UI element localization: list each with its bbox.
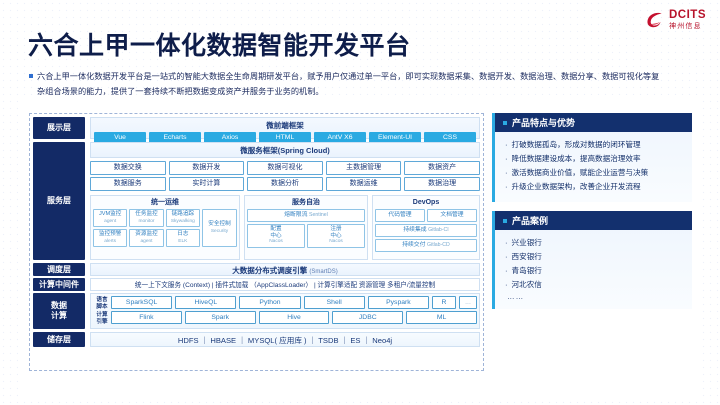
script-r[interactable]: R xyxy=(432,296,456,309)
advantages-card-body: 打破数据孤岛，形成对数据的闭环管理 降低数据建设成本，提高数据治理效率 激活数据… xyxy=(495,132,692,202)
schedule-layer-row: 调度层 大数据分布式调度引擎 (SmartDS) xyxy=(33,263,480,276)
engine-jdbc[interactable]: JDBC xyxy=(332,311,403,324)
microservice-framework-panel: 微服务框架(Spring Cloud) xyxy=(90,142,480,158)
ops-alert-cn: 监控预警 xyxy=(94,231,126,238)
engine-spark[interactable]: Spark xyxy=(185,311,256,324)
cap-data-service[interactable]: 数据服务 xyxy=(90,177,166,191)
script-hiveql[interactable]: HiveQL xyxy=(175,296,236,309)
advantage-item-4: 升级企业数据架构，改善企业开发流程 xyxy=(505,180,682,194)
autonomy-registry-center[interactable]: 注册 中心 Nacos xyxy=(307,224,365,248)
advantage-item-1: 打破数据孤岛，形成对数据的闭环管理 xyxy=(505,138,682,152)
layer-label-data-compute-line1: 数据 xyxy=(51,301,67,310)
ops-alert[interactable]: 监控预警 alerts xyxy=(93,229,127,247)
case-item-2: 西安银行 xyxy=(505,250,682,264)
cases-card: 产品案例 兴业银行 西安银行 青岛银行 河北农信 …… xyxy=(492,211,692,309)
autonomy-circuit-breaker[interactable]: 熔断限流 Sentinel xyxy=(247,209,365,222)
autonomy-fuse-cn: 熔断限流 xyxy=(284,212,307,218)
scheduler-engine-band: 大数据分布式调度引擎 (SmartDS) xyxy=(90,263,480,276)
devops-title: DevOps xyxy=(375,198,477,207)
cases-bullet-icon xyxy=(503,219,507,223)
logo-en-text: DCITS xyxy=(669,10,706,22)
engine-ml[interactable]: ML xyxy=(406,311,477,324)
bullet-square-icon xyxy=(29,74,33,78)
advantages-card-header: 产品特点与优势 xyxy=(495,113,692,132)
storage-layer-row: 储存层 HDFS ｜ HBASE ｜ MYSQL( 应用库 ) ｜ TSDB ｜… xyxy=(33,332,480,347)
cap-data-assets[interactable]: 数据资产 xyxy=(404,161,480,175)
advantages-card: 产品特点与优势 打破数据孤岛，形成对数据的闭环管理 降低数据建设成本，提高数据治… xyxy=(492,113,692,202)
service-autonomy-panel: 服务自治 熔断限流 Sentinel 配置 中心 Nacos xyxy=(244,195,368,260)
cap-data-visualization[interactable]: 数据可视化 xyxy=(247,161,323,175)
scheduler-engine-cn: 大数据分布式调度引擎 xyxy=(232,266,307,275)
autonomy-fuse-en: Sentinel xyxy=(309,212,328,218)
case-item-1: 兴业银行 xyxy=(505,236,682,250)
ops-resource-monitor-cn: 资源监控 xyxy=(130,231,162,238)
advantage-item-3: 激活数据商业价值，赋能企业运营与决策 xyxy=(505,166,682,180)
devops-continuous-integration[interactable]: 持续集成 Gitlab-CI xyxy=(375,224,477,237)
script-label-line2: 脚本 xyxy=(96,304,107,310)
capability-grid: 数据交换 数据开发 数据可视化 主数据管理 数据资产 数据服务 实时计算 数据分… xyxy=(90,161,480,191)
ops-task-monitor[interactable]: 任务监控 monitor xyxy=(129,209,163,227)
devops-cd-en: Gitlab-CD xyxy=(427,242,450,248)
devops-row-1: 代码管理 文档管理 xyxy=(375,209,477,222)
case-item-3: 青岛银行 xyxy=(505,264,682,278)
middleware-band: 统一上下文服务 (Context) | 插件式加载 （AppClassLoade… xyxy=(90,278,480,291)
scheduler-engine-en: (SmartDS) xyxy=(309,269,337,275)
layer-label-data-compute: 数据 计算 xyxy=(33,293,85,329)
ops-resource-monitor-en: agent xyxy=(130,238,162,245)
architecture-diagram: 展示层 微前端框架 Vue Echarts Axios HTML AntV X6… xyxy=(29,113,484,371)
ops-log-elk[interactable]: 日志 ELK xyxy=(166,229,200,247)
ops-security-cn: 安全控制 xyxy=(208,221,230,228)
devops-row-2: 持续集成 Gitlab-CI xyxy=(375,224,477,237)
engine-row: Flink Spark Hive JDBC ML xyxy=(111,311,477,324)
layer-label-schedule: 调度层 xyxy=(33,263,85,276)
lead-paragraph: 六合上甲一体化数据开发平台是一站式的智能大数据全生命周期研发平台，赋予用户仅通过… xyxy=(29,69,705,99)
devops-doc-management[interactable]: 文档管理 xyxy=(427,209,477,222)
side-panel: 产品特点与优势 打破数据孤岛，形成对数据的闭环管理 降低数据建设成本，提高数据治… xyxy=(492,113,692,318)
cap-realtime-compute[interactable]: 实时计算 xyxy=(169,177,245,191)
ops-trace-cn: 链路追踪 xyxy=(167,211,199,218)
cases-card-header: 产品案例 xyxy=(495,211,692,230)
registry-center-en: Nacos xyxy=(308,239,364,246)
ops-jvm-monitor-en: agent xyxy=(94,218,126,225)
layer-label-service: 服务层 xyxy=(33,142,85,260)
cap-master-data-management[interactable]: 主数据管理 xyxy=(326,161,402,175)
script-pyspark[interactable]: Pyspark xyxy=(368,296,429,309)
dcits-swoosh-icon xyxy=(645,10,665,30)
devops-continuous-delivery[interactable]: 持续交付 Gitlab-CD xyxy=(375,239,477,252)
brand-logo: DCITS 神州信息 xyxy=(645,10,706,30)
devops-panel: DevOps 代码管理 文档管理 持续集成 Gitlab-CI 持续交付 xyxy=(372,195,480,260)
ops-task-monitor-en: monitor xyxy=(130,218,162,225)
cap-data-analysis[interactable]: 数据分析 xyxy=(247,177,323,191)
advantages-title: 产品特点与优势 xyxy=(512,116,575,129)
ops-task-monitor-cn: 任务监控 xyxy=(130,211,162,218)
cap-data-governance[interactable]: 数据治理 xyxy=(404,177,480,191)
layer-label-middleware: 计算中间件 xyxy=(33,278,85,291)
ops-alert-en: alerts xyxy=(94,238,126,245)
cases-card-body: 兴业银行 西安银行 青岛银行 河北农信 …… xyxy=(495,230,692,309)
config-center-en: Nacos xyxy=(248,239,304,246)
logo-cn-text: 神州信息 xyxy=(669,23,706,30)
script-python[interactable]: Python xyxy=(239,296,300,309)
engine-flink[interactable]: Flink xyxy=(111,311,182,324)
layer-label-data-compute-line2: 计算 xyxy=(51,311,67,320)
cases-more: …… xyxy=(505,292,682,301)
engine-hive[interactable]: Hive xyxy=(259,311,330,324)
presentation-layer-row: 展示层 微前端框架 Vue Echarts Axios HTML AntV X6… xyxy=(33,117,480,139)
ops-security-control[interactable]: 安全控制 Security xyxy=(202,209,237,247)
service-autonomy-title: 服务自治 xyxy=(247,198,365,207)
storage-band: HDFS ｜ HBASE ｜ MYSQL( 应用库 ) ｜ TSDB ｜ ES … xyxy=(90,332,480,347)
autonomy-row-2: 配置 中心 Nacos 注册 中心 Nacos xyxy=(247,224,365,248)
ops-security-en: Security xyxy=(211,228,228,235)
autonomy-row-1: 熔断限流 Sentinel xyxy=(247,209,365,222)
capability-row-2: 数据服务 实时计算 数据分析 数据运维 数据治理 xyxy=(90,177,480,191)
data-compute-layer-row: 数据 计算 语言 脚本 计算 引擎 SparkSQL xyxy=(33,293,480,329)
unified-ops-title: 统一运维 xyxy=(93,198,237,207)
script-sparksql[interactable]: SparkSQL xyxy=(111,296,172,309)
ops-trace-skywalking[interactable]: 链路追踪 Skywalking xyxy=(166,209,200,227)
autonomy-config-center[interactable]: 配置 中心 Nacos xyxy=(247,224,305,248)
ops-resource-monitor[interactable]: 资源监控 agent xyxy=(129,229,163,247)
ops-jvm-monitor-cn: JVM监控 xyxy=(94,211,126,218)
ops-autonomy-devops-row: 统一运维 JVM监控 agent 任务监控 monitor xyxy=(90,195,480,260)
devops-cd-cn: 持续交付 xyxy=(402,242,425,248)
ops-log-cn: 日志 xyxy=(167,231,199,238)
cap-data-ops[interactable]: 数据运维 xyxy=(326,177,402,191)
case-item-4: 河北农信 xyxy=(505,278,682,292)
compute-side-labels: 语言 脚本 计算 引擎 xyxy=(93,296,111,326)
middleware-layer-row: 计算中间件 统一上下文服务 (Context) | 插件式加载 （AppClas… xyxy=(33,278,480,291)
presentation-panel: 微前端框架 Vue Echarts Axios HTML AntV X6 Ele… xyxy=(90,117,480,139)
advantages-bullet-icon xyxy=(503,121,507,125)
micro-frontend-title: 微前端框架 xyxy=(91,118,479,132)
cap-data-exchange[interactable]: 数据交换 xyxy=(90,161,166,175)
capability-row-1: 数据交换 数据开发 数据可视化 主数据管理 数据资产 xyxy=(90,161,480,175)
page-title: 六合上甲一体化数据智能开发平台 xyxy=(28,26,411,62)
devops-ci-en: Gitlab-CI xyxy=(428,227,448,233)
lead-line-2: 杂组合场景的能力，提供了一套持续不断把数据变成资产并服务于业务的机制。 xyxy=(37,87,324,96)
cap-data-development[interactable]: 数据开发 xyxy=(169,161,245,175)
compute-panel: 语言 脚本 计算 引擎 SparkSQL HiveQL Python Shell… xyxy=(90,293,480,329)
microservice-framework-title: 微服务框架(Spring Cloud) xyxy=(91,143,479,157)
layer-label-presentation: 展示层 xyxy=(33,117,85,139)
script-label-line1: 语言 xyxy=(96,297,107,303)
ops-row-2: 监控预警 alerts 资源监控 agent 日志 ELK xyxy=(93,229,200,247)
script-shell[interactable]: Shell xyxy=(304,296,365,309)
script-more[interactable]: ... xyxy=(459,296,477,309)
cases-title: 产品案例 xyxy=(512,214,548,227)
unified-ops-panel: 统一运维 JVM监控 agent 任务监控 monitor xyxy=(90,195,240,260)
engine-label-line1: 计算 xyxy=(96,312,107,318)
service-layer-row: 服务层 微服务框架(Spring Cloud) 数据交换 数据开发 数据可视化 … xyxy=(33,142,480,260)
ops-jvm-monitor[interactable]: JVM监控 agent xyxy=(93,209,127,227)
ops-log-en: ELK xyxy=(167,238,199,245)
ops-trace-en: Skywalking xyxy=(167,218,199,225)
lead-line-1: 六合上甲一体化数据开发平台是一站式的智能大数据全生命周期研发平台，赋予用户仅通过… xyxy=(37,72,659,81)
ops-row-1: JVM监控 agent 任务监控 monitor 链路追踪 Skywalking xyxy=(93,209,200,227)
script-row: SparkSQL HiveQL Python Shell Pyspark R .… xyxy=(111,296,477,309)
advantage-item-2: 降低数据建设成本，提高数据治理效率 xyxy=(505,152,682,166)
layer-label-storage: 储存层 xyxy=(33,332,85,347)
devops-code-management[interactable]: 代码管理 xyxy=(375,209,425,222)
engine-label-line2: 引擎 xyxy=(96,319,107,325)
devops-row-3: 持续交付 Gitlab-CD xyxy=(375,239,477,252)
devops-ci-cn: 持续集成 xyxy=(403,227,426,233)
